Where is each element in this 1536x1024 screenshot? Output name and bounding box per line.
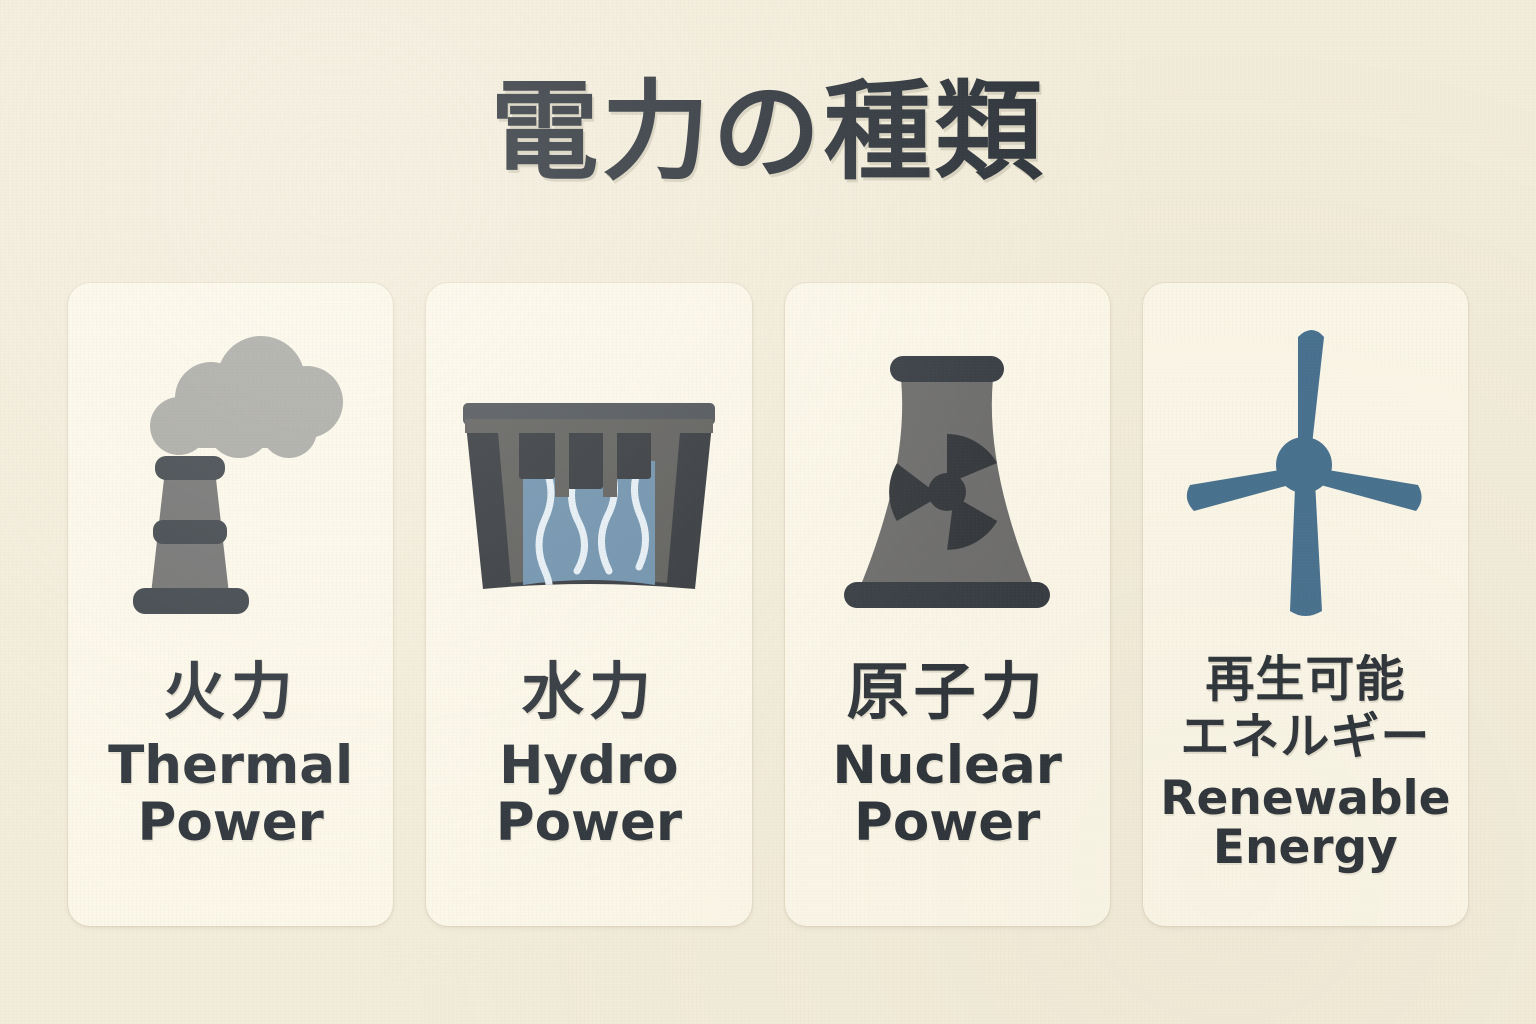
card-renewable-energy[interactable]: 再生可能 エネルギー Renewable Energy bbox=[1143, 283, 1468, 926]
label-jp: 火力 bbox=[74, 657, 387, 726]
label-en-line2: Power bbox=[791, 795, 1104, 851]
card-labels: 再生可能 エネルギー Renewable Energy bbox=[1143, 652, 1468, 926]
label-en: Renewable Energy bbox=[1149, 774, 1462, 874]
label-en: Hydro Power bbox=[432, 738, 745, 850]
label-jp: 原子力 bbox=[791, 657, 1104, 726]
label-en-line1: Renewable bbox=[1149, 774, 1462, 824]
label-jp: 再生可能 エネルギー bbox=[1149, 652, 1462, 766]
card-labels: 水力 Hydro Power bbox=[426, 657, 751, 926]
label-en-line1: Nuclear bbox=[791, 738, 1104, 794]
label-en-line2: Energy bbox=[1149, 823, 1462, 873]
label-en: Thermal Power bbox=[74, 738, 387, 850]
label-en-line1: Thermal bbox=[74, 738, 387, 794]
card-thermal-power[interactable]: 火力 Thermal Power bbox=[68, 283, 393, 926]
smokestack-icon bbox=[68, 307, 393, 657]
wind-turbine-icon bbox=[1143, 307, 1468, 652]
card-nuclear-power[interactable]: 原子力 Nuclear Power bbox=[785, 283, 1110, 926]
power-type-card-row: 火力 Thermal Power bbox=[68, 283, 1468, 926]
label-en-line2: Power bbox=[74, 795, 387, 851]
label-en-line2: Power bbox=[432, 795, 745, 851]
cooling-tower-icon bbox=[785, 307, 1110, 657]
label-jp: 水力 bbox=[432, 657, 745, 726]
card-hydro-power[interactable]: 水力 Hydro Power bbox=[426, 283, 751, 926]
card-labels: 火力 Thermal Power bbox=[68, 657, 393, 926]
infographic-stage: 電力の種類 bbox=[0, 0, 1536, 1024]
card-labels: 原子力 Nuclear Power bbox=[785, 657, 1110, 926]
label-en-line1: Hydro bbox=[432, 738, 745, 794]
page-title: 電力の種類 bbox=[0, 74, 1536, 193]
label-jp-line2: エネルギー bbox=[1149, 709, 1462, 766]
label-jp-line1: 再生可能 bbox=[1149, 652, 1462, 709]
dam-icon bbox=[426, 307, 751, 657]
label-en: Nuclear Power bbox=[791, 738, 1104, 850]
